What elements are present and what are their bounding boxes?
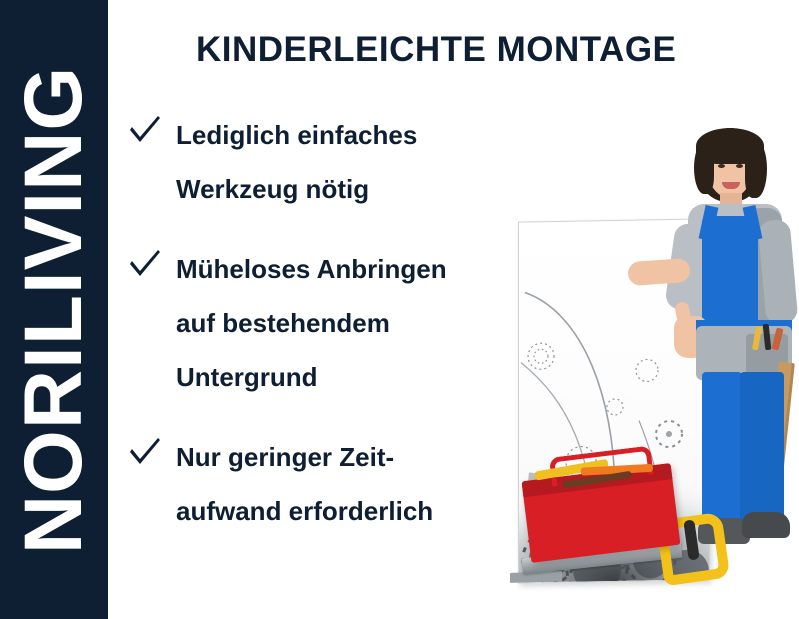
promo-banner: NORILIVING KINDERLEICHTE MONTAGE Ledigli… bbox=[0, 0, 799, 619]
list-item: Nur geringer Zeit- aufwand erforderlich bbox=[128, 430, 508, 538]
list-item-text: Lediglich einfaches Werkzeug nötig bbox=[176, 108, 508, 216]
list-item-line: auf bestehendem bbox=[176, 296, 508, 350]
list-item: Müheloses Anbringen auf bestehendem Unte… bbox=[128, 242, 508, 404]
checkmark-icon bbox=[128, 246, 162, 280]
work-shoe-right bbox=[742, 512, 790, 538]
list-item: Lediglich einfaches Werkzeug nötig bbox=[128, 108, 508, 216]
checkmark-icon bbox=[128, 434, 162, 468]
eye-left bbox=[718, 164, 725, 168]
list-item-line: Untergrund bbox=[176, 350, 508, 404]
brand-name: NORILIVING bbox=[13, 65, 95, 553]
page-title: KINDERLEICHTE MONTAGE bbox=[196, 30, 676, 70]
list-item-line: aufwand erforderlich bbox=[176, 484, 508, 538]
benefits-list: Lediglich einfaches Werkzeug nötig Mühel… bbox=[128, 108, 508, 564]
list-item-line: Lediglich einfaches bbox=[176, 108, 508, 162]
eye-right bbox=[736, 164, 743, 168]
product-photo bbox=[500, 120, 799, 619]
trouser-leg-right bbox=[740, 372, 784, 522]
hand-holding-panel bbox=[627, 258, 691, 286]
checkmark-icon bbox=[128, 112, 162, 146]
list-item-text: Nur geringer Zeit- aufwand erforderlich bbox=[176, 430, 508, 538]
trouser-leg-left bbox=[702, 372, 742, 528]
hair-side-left bbox=[694, 142, 714, 194]
list-item-text: Müheloses Anbringen auf bestehendem Unte… bbox=[176, 242, 508, 404]
brand-sidebar: NORILIVING bbox=[0, 0, 108, 619]
list-item-line: Werkzeug nötig bbox=[176, 162, 508, 216]
list-item-line: Müheloses Anbringen bbox=[176, 242, 508, 296]
list-item-line: Nur geringer Zeit- bbox=[176, 430, 508, 484]
hair-side-right bbox=[745, 140, 767, 198]
